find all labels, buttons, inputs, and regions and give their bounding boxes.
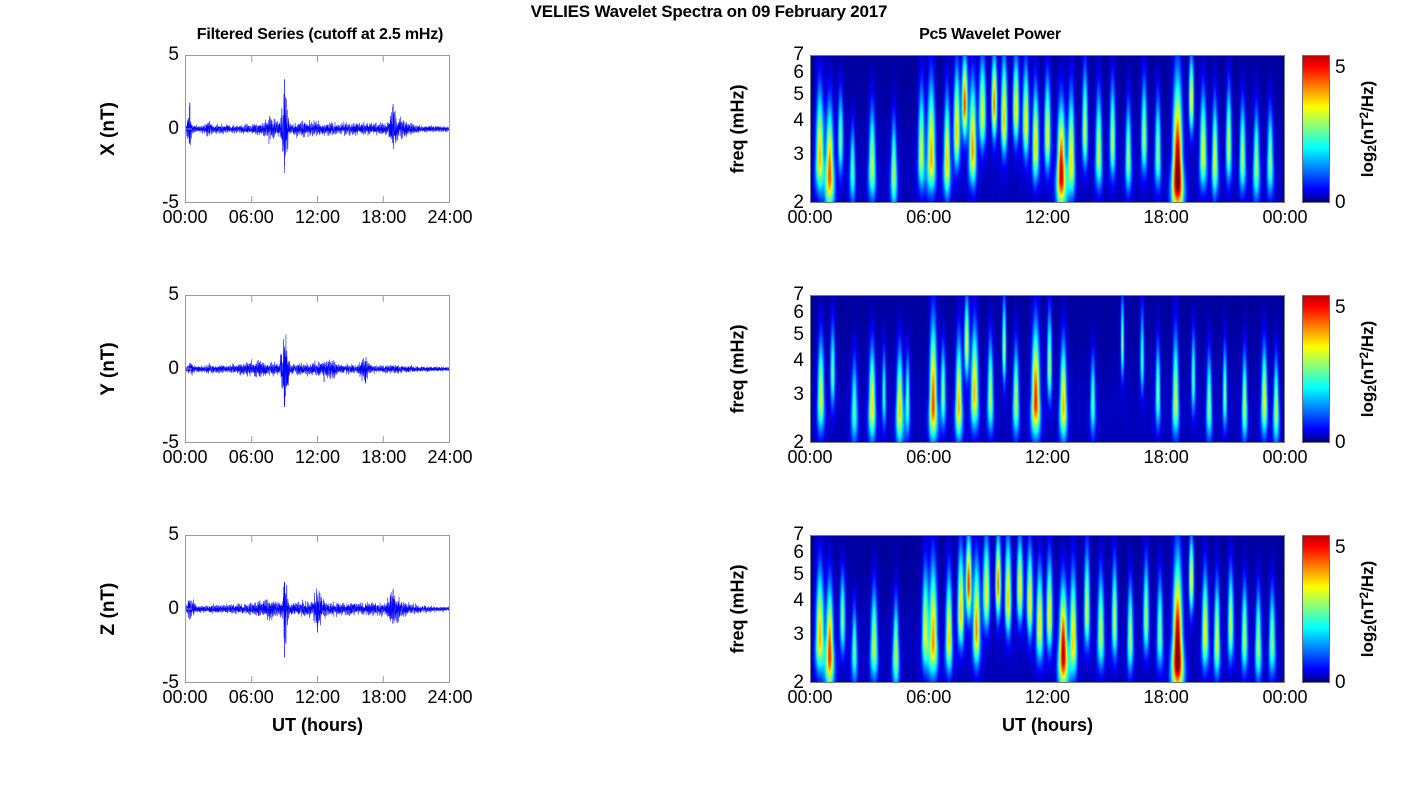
- xlabel-right-column: UT (hours): [1002, 715, 1093, 736]
- timeseries-trace: [186, 335, 449, 405]
- xtick-label: 00:00: [1262, 207, 1307, 228]
- xtick-label: 00:00: [1262, 687, 1307, 708]
- xtick-label: 18:00: [361, 687, 406, 708]
- ytick-label: 0: [139, 118, 179, 140]
- colorbar-label-x: log2(nT2/Hz): [1357, 81, 1379, 177]
- spectrogram-panel-y: [810, 295, 1285, 443]
- figure-suptitle: VELIES Wavelet Spectra on 09 February 20…: [0, 2, 1418, 22]
- ylabel-timeseries-z: Z (nT): [98, 583, 120, 636]
- ytick-label: 2: [772, 672, 804, 694]
- ytick-label: 5: [139, 44, 179, 66]
- ylabel-spectrogram-x: freq (mHz): [728, 85, 749, 174]
- timeseries-panel-z: [185, 535, 450, 683]
- spectrogram-panel-z: [810, 535, 1285, 683]
- xtick-label: 06:00: [906, 447, 951, 468]
- colorbar-tick-label: 5: [1335, 57, 1346, 79]
- colorbar-label-y: log2(nT2/Hz): [1357, 321, 1379, 417]
- xtick-label: 12:00: [1025, 207, 1070, 228]
- colorbar-tick-label: 0: [1335, 192, 1346, 214]
- timeseries-trace: [186, 94, 449, 173]
- ytick-label: 7: [772, 284, 804, 306]
- xtick-label: 12:00: [295, 447, 340, 468]
- xtick-label: 18:00: [361, 207, 406, 228]
- ytick-label: 2: [772, 432, 804, 454]
- ytick-label: 0: [139, 358, 179, 380]
- colorbar-z: [1302, 535, 1330, 683]
- xtick-label: 00:00: [1262, 447, 1307, 468]
- colorbar-x: [1302, 55, 1330, 203]
- ytick-label: 4: [772, 110, 804, 132]
- figure-canvas: VELIES Wavelet Spectra on 09 February 20…: [0, 0, 1418, 788]
- ytick-label: -5: [139, 192, 179, 214]
- right-column-title: Pc5 Wavelet Power: [790, 26, 1190, 44]
- xlabel-left-column: UT (hours): [272, 715, 363, 736]
- spectrogram-image: [811, 536, 1284, 682]
- xtick-label: 06:00: [229, 447, 274, 468]
- xtick-label: 06:00: [229, 207, 274, 228]
- xtick-label: 06:00: [229, 687, 274, 708]
- ytick-label: 7: [772, 524, 804, 546]
- colorbar-label-z: log2(nT2/Hz): [1357, 561, 1379, 657]
- xtick-label: 24:00: [427, 447, 472, 468]
- colorbar-y: [1302, 295, 1330, 443]
- xtick-label: 18:00: [1144, 207, 1189, 228]
- ylabel-spectrogram-y: freq (mHz): [728, 325, 749, 414]
- ytick-label: 7: [772, 44, 804, 66]
- xtick-label: 12:00: [1025, 687, 1070, 708]
- ytick-label: 0: [139, 598, 179, 620]
- ylabel-timeseries-x: X (nT): [98, 102, 120, 156]
- xtick-label: 24:00: [427, 207, 472, 228]
- ylabel-timeseries-y: Y (nT): [98, 342, 120, 395]
- xtick-label: 12:00: [295, 687, 340, 708]
- xtick-label: 06:00: [906, 687, 951, 708]
- xtick-label: 18:00: [1144, 447, 1189, 468]
- xtick-label: 18:00: [361, 447, 406, 468]
- xtick-label: 24:00: [427, 687, 472, 708]
- colorbar-tick-label: 0: [1335, 672, 1346, 694]
- ytick-label: 5: [772, 84, 804, 106]
- ytick-label: 3: [772, 144, 804, 166]
- ylabel-spectrogram-z: freq (mHz): [728, 565, 749, 654]
- ytick-label: -5: [139, 432, 179, 454]
- ytick-label: 5: [772, 324, 804, 346]
- ytick-label: 3: [772, 384, 804, 406]
- ytick-label: 4: [772, 350, 804, 372]
- xtick-label: 12:00: [1025, 447, 1070, 468]
- ytick-label: 5: [139, 284, 179, 306]
- spectrogram-image: [811, 56, 1284, 202]
- timeseries-panel-y: [185, 295, 450, 443]
- spectrogram-panel-x: [810, 55, 1285, 203]
- ytick-label: 2: [772, 192, 804, 214]
- colorbar-tick-label: 5: [1335, 297, 1346, 319]
- ytick-label: 4: [772, 590, 804, 612]
- spectrogram-image: [811, 296, 1284, 442]
- xtick-label: 12:00: [295, 207, 340, 228]
- ytick-label: 5: [772, 564, 804, 586]
- colorbar-tick-label: 5: [1335, 537, 1346, 559]
- ytick-label: 5: [139, 524, 179, 546]
- ytick-label: 3: [772, 624, 804, 646]
- colorbar-tick-label: 0: [1335, 432, 1346, 454]
- ytick-label: -5: [139, 672, 179, 694]
- left-column-title: Filtered Series (cutoff at 2.5 mHz): [120, 26, 520, 44]
- xtick-label: 18:00: [1144, 687, 1189, 708]
- xtick-label: 06:00: [906, 207, 951, 228]
- timeseries-panel-x: [185, 55, 450, 203]
